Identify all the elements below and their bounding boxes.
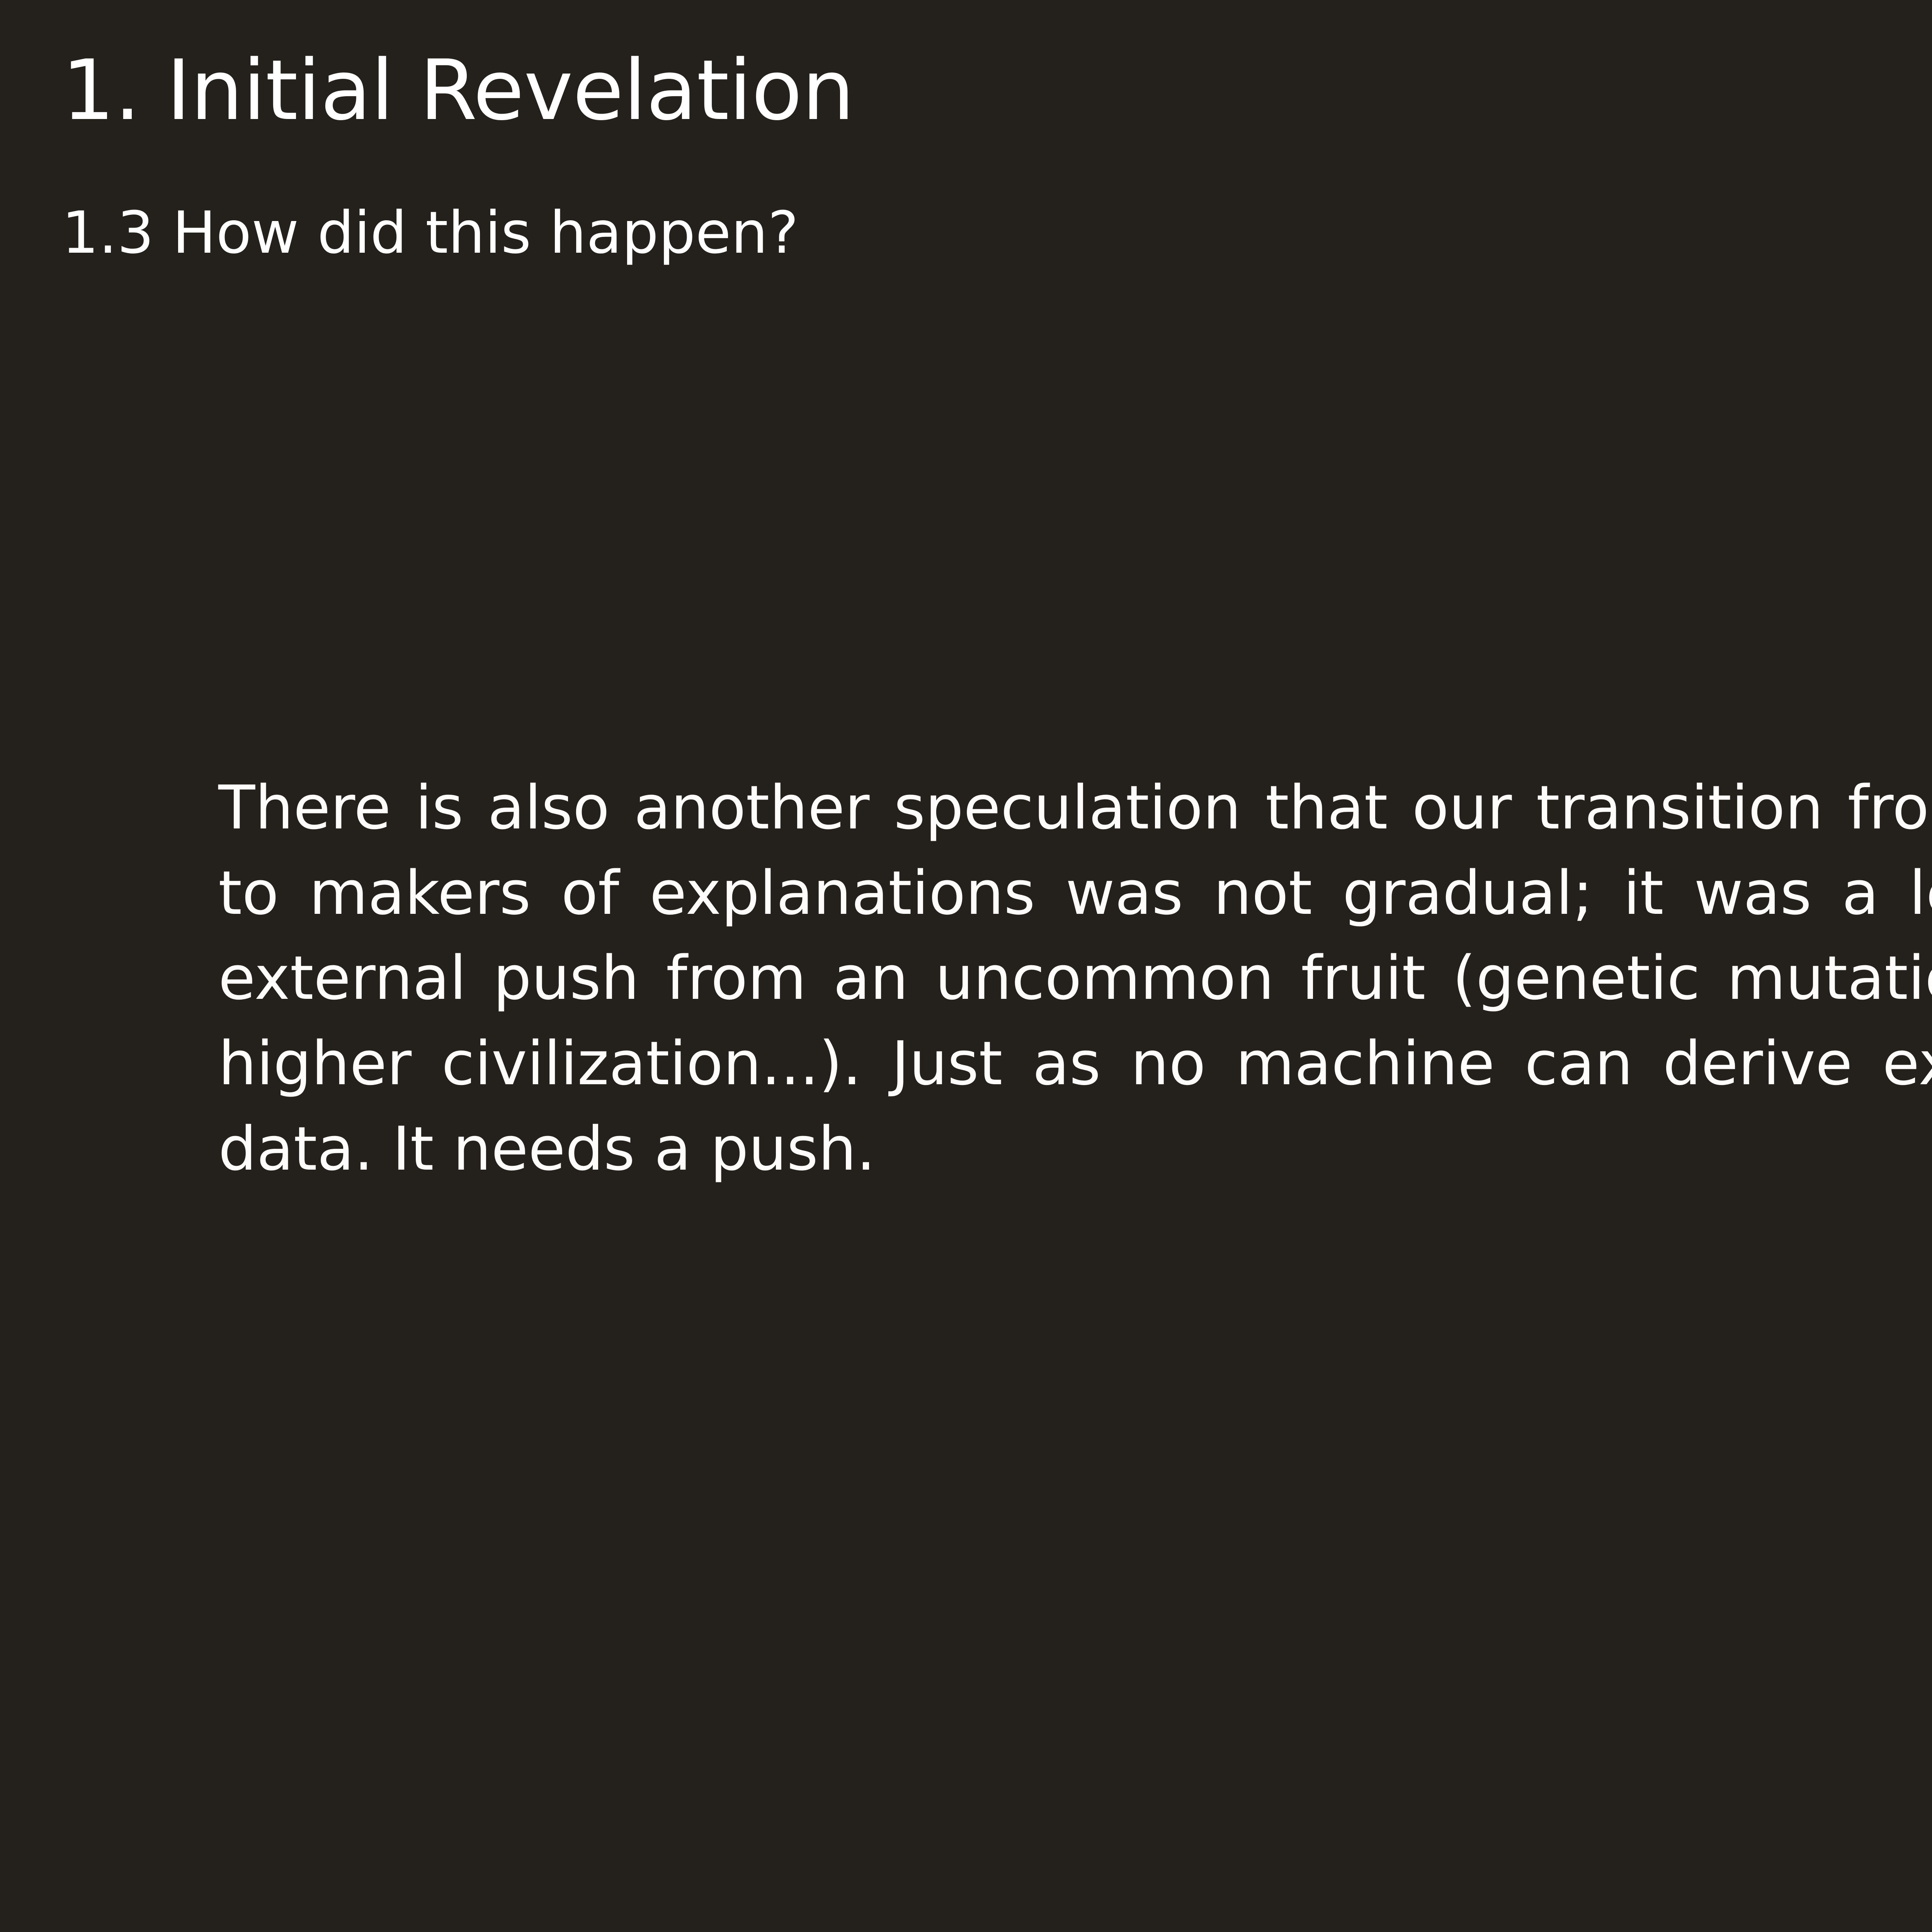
- section-title: 1. Initial Revelation: [62, 46, 854, 134]
- slide-body: There is also another speculation that o…: [218, 765, 1932, 1192]
- subsection-title: 1.3 How did this happen?: [62, 203, 799, 264]
- slide-footer: 10/64: [0, 1928, 1932, 1932]
- body-paragraph: There is also another speculation that o…: [218, 765, 1932, 1192]
